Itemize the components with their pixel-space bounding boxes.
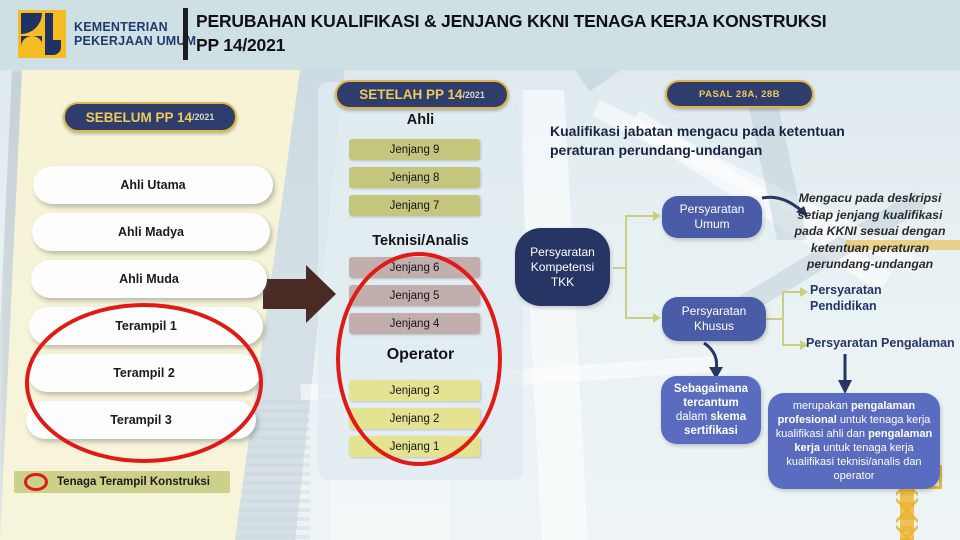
skema-line-3-bold: skema (710, 411, 746, 423)
connector-to-umum (625, 215, 653, 217)
highlight-ellipse-middle (336, 252, 502, 466)
badge-setelah: SETELAH PP 14/2021 (335, 80, 509, 109)
node-persyaratan-umum: PersyaratanUmum (662, 196, 762, 238)
connector-khusus-vertical (782, 291, 784, 346)
level-bar: Jenjang 8 (349, 167, 480, 188)
connector-to-khusus (625, 317, 653, 319)
highlight-ellipse-left (25, 303, 263, 463)
level-bar: Jenjang 9 (349, 139, 480, 160)
list-item: Ahli Muda (31, 260, 267, 298)
badge-sebelum: SEBELUM PP 14/2021 (63, 102, 237, 132)
list-item: Ahli Utama (33, 166, 273, 204)
page-title-line-1: PERUBAHAN KUALIFIKASI & JENJANG KKNI TEN… (196, 9, 946, 33)
headline-line-2: peraturan perundang-undangan (550, 141, 950, 160)
list-item-label: Ahli Madya (118, 225, 184, 239)
legend-tenaga-terampil: Tenaga Terampil Konstruksi (14, 471, 230, 493)
note-mengacu-deskripsi: Mengacu pada deskripsi setiap jenjang ku… (788, 190, 952, 273)
skema-line-4: sertifikasi (684, 425, 738, 437)
arrowhead-pendidikan-icon (800, 287, 808, 297)
list-item-label: Ahli Utama (120, 178, 185, 192)
skema-line-3: dalam (676, 411, 711, 423)
level-bar-label: Jenjang 9 (390, 144, 440, 156)
list-item-label: Ahli Muda (119, 272, 179, 286)
node-persyaratan-kompetensi-tkk: PersyaratanKompetensiTKK (515, 228, 610, 306)
ministry-line-1: KEMENTERIAN (74, 20, 196, 34)
badge-setelah-sup: /2021 (463, 90, 485, 100)
connector-to-pendidikan (782, 291, 800, 293)
badge-sebelum-sup: /2021 (192, 112, 214, 122)
infographic-canvas: KEMENTERIAN PEKERJAAN UMUM PERUBAHAN KUA… (0, 0, 960, 540)
ministry-line-2: PEKERJAAN UMUM (74, 34, 196, 48)
right-arrow-icon (263, 265, 336, 323)
badge-pasal-label: PASAL 28A, 28B (699, 89, 780, 100)
headline-line-1: Kualifikasi jabatan mengacu pada ketentu… (550, 122, 950, 141)
connector-to-pengalaman (782, 344, 800, 346)
node-sebagaimana-skema-sertifikasi: Sebagaimana tercantum dalam skema sertif… (661, 376, 761, 444)
legend-label: Tenaga Terampil Konstruksi (57, 476, 210, 488)
level-bar-label: Jenjang 7 (390, 200, 440, 212)
title-divider-bar (183, 8, 188, 60)
ministry-logo-block: KEMENTERIAN PEKERJAAN UMUM (18, 10, 196, 58)
node-pengalaman-profesional: merupakan pengalaman profesional untuk t… (768, 393, 940, 489)
page-title-line-2: PP 14/2021 (196, 33, 946, 57)
badge-setelah-main: SETELAH PP 14 (359, 87, 462, 102)
branch-persyaratan-pengalaman: Persyaratan Pengalaman (806, 335, 960, 351)
badge-sebelum-main: SEBELUM PP 14 (86, 110, 192, 125)
arrowhead-umum-icon (653, 211, 661, 221)
level-bar: Jenjang 7 (349, 195, 480, 216)
page-title: PERUBAHAN KUALIFIKASI & JENJANG KKNI TEN… (196, 9, 946, 57)
page-header: KEMENTERIAN PEKERJAAN UMUM PERUBAHAN KUA… (0, 0, 960, 70)
ministry-name: KEMENTERIAN PEKERJAAN UMUM (74, 20, 196, 48)
level-bar-label: Jenjang 8 (390, 172, 440, 184)
pengalaman-bold-1: pengalaman (851, 400, 915, 412)
skema-line-2: tercantum (683, 397, 739, 409)
pu-ministry-logo-icon (18, 10, 66, 58)
skema-line-1: Sebagaimana (674, 383, 748, 395)
node-persyaratan-khusus: PersyaratanKhusus (662, 297, 766, 341)
group-title-ahli: Ahli (318, 112, 523, 128)
pengalaman-bold-2: profesional (778, 414, 837, 426)
list-item: Ahli Madya (32, 213, 270, 251)
arrowhead-khusus-icon (653, 313, 661, 323)
group-title-teknisi: Teknisi/Analis (318, 233, 523, 249)
connector-root-vertical (625, 215, 627, 319)
red-ellipse-icon (24, 473, 48, 491)
badge-pasal: PASAL 28A, 28B (665, 80, 814, 108)
pengalaman-text-1: merupakan (793, 400, 851, 412)
headline-kualifikasi: Kualifikasi jabatan mengacu pada ketentu… (550, 122, 950, 160)
branch-persyaratan-pendidikan: PersyaratanPendidikan (810, 282, 950, 314)
